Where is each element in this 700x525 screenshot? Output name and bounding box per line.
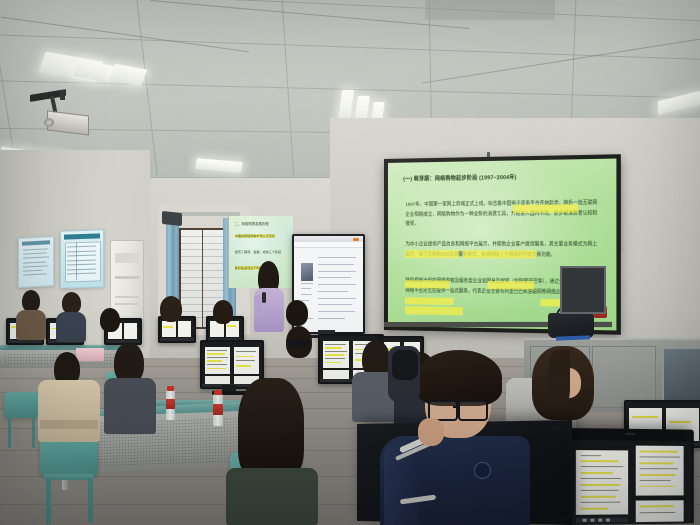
bottle-label [213, 404, 223, 415]
student-head [286, 300, 308, 326]
ceiling-vent [425, 0, 555, 20]
toolbar-icon[interactable] [583, 519, 587, 522]
slide-title: (一) 萌芽期：网络购物起步阶段 (1997~2004年) [403, 173, 517, 183]
foreground-student-hair [416, 350, 502, 406]
secondary-slide-line: 中国的网络购物市场从无到有 [235, 233, 287, 239]
student-hair-strand [548, 350, 570, 406]
student-body [16, 310, 46, 340]
toolbar-icon[interactable] [606, 519, 610, 522]
microphone[interactable] [262, 292, 266, 303]
foreground-student-hand [418, 418, 444, 446]
chair-leg [32, 418, 35, 448]
slide-paragraph-1: 1997年，中国第一家网上商城正式上线，标志着中国电子商务平台开始起步。随后一批… [405, 199, 597, 229]
browser-tab-bar [294, 242, 363, 248]
projector-lens [44, 118, 54, 127]
student-head [160, 296, 182, 322]
monitor-screen [160, 318, 194, 341]
bottle-cap [214, 390, 222, 395]
ac-vent [115, 253, 139, 263]
student-jacket-band [40, 420, 98, 429]
projector-mount-arm [60, 90, 65, 100]
cabinet-door[interactable] [592, 346, 656, 408]
poster-title-bar [22, 240, 49, 245]
monitor-brand-label: ASUS [626, 432, 636, 436]
chair-leg [8, 418, 11, 448]
poster-title-bar [64, 233, 99, 239]
bottle-cap [167, 386, 174, 391]
toolbar-icon[interactable] [591, 519, 595, 522]
student-body [56, 312, 86, 342]
chair-leg [46, 478, 51, 524]
classroom-photo-scene: 二、网络购物发展历程 中国的网络购物市场从无到有 经历了萌芽、发展、成熟三个阶段… [0, 0, 700, 525]
window-mullion [202, 230, 204, 327]
student-head [213, 300, 233, 324]
toolbar-icon[interactable] [598, 519, 602, 522]
page-photo-thumbnail [301, 263, 313, 281]
teacher-arm [254, 295, 262, 317]
site-logo-icon [353, 238, 359, 241]
chair[interactable] [4, 392, 38, 418]
glasses-icon [290, 340, 309, 346]
poster-lab-schedule [60, 229, 104, 289]
chair-leg [88, 478, 93, 522]
secondary-slide-title: 二、网络购物发展历程 [235, 221, 269, 226]
bottle-label [166, 399, 175, 409]
student-head [62, 292, 81, 314]
student-hair [238, 378, 304, 482]
glasses-bridge-icon [453, 406, 459, 408]
poster-classroom-rules [18, 236, 54, 288]
foreground-monitor: ASUS [565, 428, 694, 525]
student-head [100, 308, 120, 332]
chair-seat [44, 474, 94, 480]
student-head [22, 290, 40, 312]
office-chair-back [392, 350, 418, 380]
ac-control-panel[interactable] [115, 276, 139, 279]
jacket-logo-patch [474, 462, 491, 479]
handbag [548, 313, 594, 338]
glasses-icon [458, 400, 488, 421]
student-body [226, 468, 318, 525]
tissue-box [76, 348, 104, 361]
student-body [104, 378, 156, 434]
secondary-slide-line: 经历了萌芽、发展、成熟三个阶段 [235, 249, 287, 255]
monitor-screen [202, 342, 262, 387]
student-body [38, 380, 100, 442]
monitor-screen [568, 440, 691, 525]
wall-speaker [162, 211, 182, 226]
wall-picture-frame [560, 266, 606, 314]
